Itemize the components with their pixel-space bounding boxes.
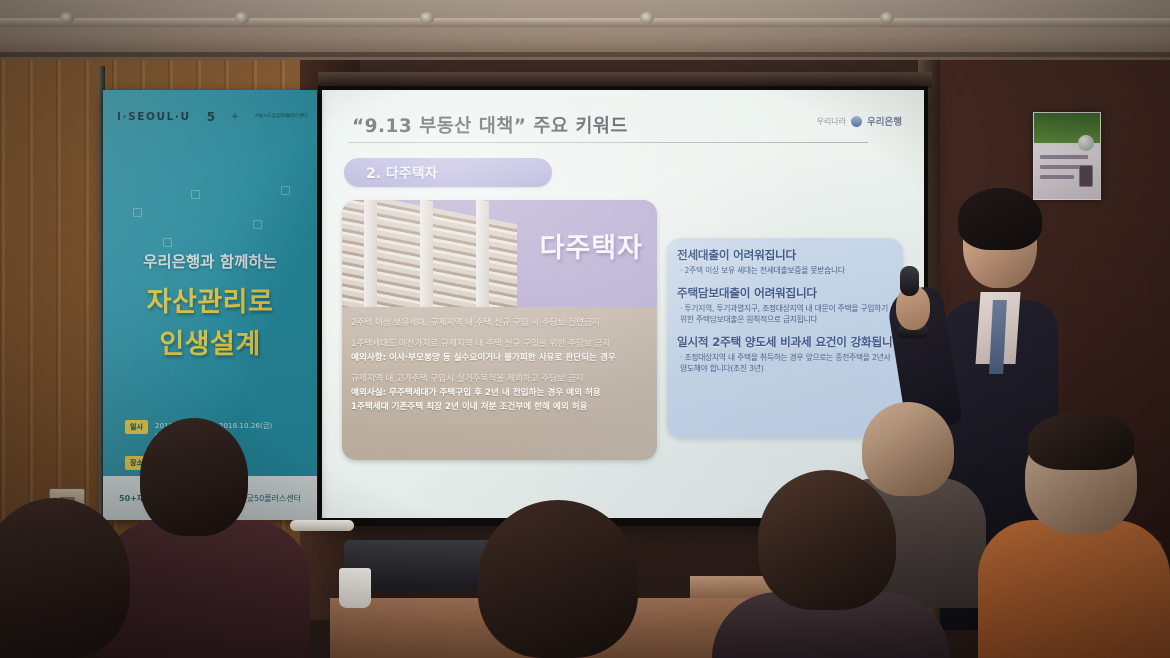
sign-text-line — [1040, 165, 1080, 169]
audience-member-head — [140, 418, 248, 536]
audience-member-hair — [1028, 412, 1134, 470]
exit-sign-badge-icon — [1078, 135, 1094, 151]
paper-cup — [339, 568, 371, 608]
card-text-line: 1주택세대 기존주택 최장 2년 이내 처분 조건부에 한해 예외 허용 — [351, 401, 648, 415]
panel-heading: 주택담보대출이 어려워집니다 — [677, 285, 893, 301]
card-text-line: 예외사실: 무주택세대가 주택구입 후 2년 내 전입하는 경우 예외 허용 — [351, 387, 648, 401]
panel-body-text: · 투기지역, 투기과열지구, 조정대상지역 내 대문이 주택을 구입하기 위한… — [680, 303, 893, 326]
audience-member-head — [758, 470, 896, 610]
card-heading: 다주택자 — [540, 226, 643, 265]
ceiling-light — [880, 12, 894, 24]
wall-pipe — [290, 520, 354, 531]
spacer — [351, 331, 648, 338]
ceiling-light — [420, 12, 434, 24]
panel-heading: 일시적 2주택 양도세 비과세 요건이 강화됩니다 — [677, 334, 893, 350]
emergency-exit-sign — [1033, 112, 1101, 200]
card-text-line: 2주택 이상 보유세대, 규제지역 내 주택 신규 구입 시 주담보 전면금지 — [351, 317, 648, 331]
audience-member-head — [478, 500, 638, 658]
presenter-hair — [958, 188, 1042, 250]
ceiling-light — [60, 12, 74, 24]
card-text-line: 1주택세대도 마찬가지로 규제지역 내 주택 신규 구입을 위한 주담보 금지 — [351, 338, 648, 352]
card-header: 다주택자 — [342, 200, 657, 307]
panel-body-text: · 조정대상지역 내 주택을 취득하는 경우 앞으로는 종전주택을 2년사 양도… — [680, 352, 893, 375]
panel-body-text: · 2주택 이상 보유 세대는 전세대출보증을 못받습니다 — [680, 265, 893, 277]
apartment-column — [364, 200, 377, 307]
title-divider — [348, 142, 868, 143]
ceiling-light — [235, 12, 249, 24]
woori-bank-logo: 우리나라 우리은행 — [817, 114, 902, 128]
audience-member-body — [978, 520, 1170, 658]
microphone — [900, 266, 919, 296]
card-text-line: 예외사항: 이사·부모봉양 등 실수요이거나 불가피한 사유로 판단되는 경우 — [351, 352, 648, 366]
apartment-column — [420, 200, 433, 307]
brand-main-label: 우리은행 — [867, 114, 902, 128]
slide-title: “9.13 부동산 대책” 주요 키워드 — [352, 112, 628, 138]
sign-text-line — [1040, 155, 1088, 159]
woori-mark-icon — [851, 116, 862, 127]
slide-section-tab: 2. 다주택자 — [344, 158, 552, 187]
sign-text-line — [1040, 175, 1074, 179]
phone-icon — [1079, 165, 1093, 187]
audience-member-head — [862, 402, 954, 496]
section-tab-label: 2. 다주택자 — [366, 163, 437, 183]
apartment-column — [476, 200, 489, 307]
ceiling-rail — [0, 18, 1170, 27]
seminar-room-photo: “9.13 부동산 대책” 주요 키워드 우리나라 우리은행 2. 다주택자 다… — [0, 0, 1170, 658]
projected-slide: “9.13 부동산 대책” 주요 키워드 우리나라 우리은행 2. 다주택자 다… — [322, 90, 924, 518]
card-body: 2주택 이상 보유세대, 규제지역 내 주택 신규 구입 시 주담보 전면금지 … — [342, 307, 657, 415]
spacer — [351, 366, 648, 373]
panel-heading: 전세대출이 어려워집니다 — [677, 247, 893, 263]
ceiling-edge — [0, 52, 1170, 57]
multi-home-owner-card: 다주택자 2주택 이상 보유세대, 규제지역 내 주택 신규 구입 시 주담보 … — [342, 200, 657, 460]
ceiling-light — [640, 12, 654, 24]
apartment-photo — [342, 200, 517, 307]
brand-sub-label: 우리나라 — [817, 116, 846, 127]
loan-impact-panel: 전세대출이 어려워집니다 · 2주택 이상 보유 세대는 전세대출보증을 못받습… — [667, 238, 903, 438]
audience-member-body — [100, 520, 310, 658]
card-text-line: 규제지역 내 고가주택 구입시 실거주목적을 제외하고 주담보 금지 — [351, 373, 648, 387]
